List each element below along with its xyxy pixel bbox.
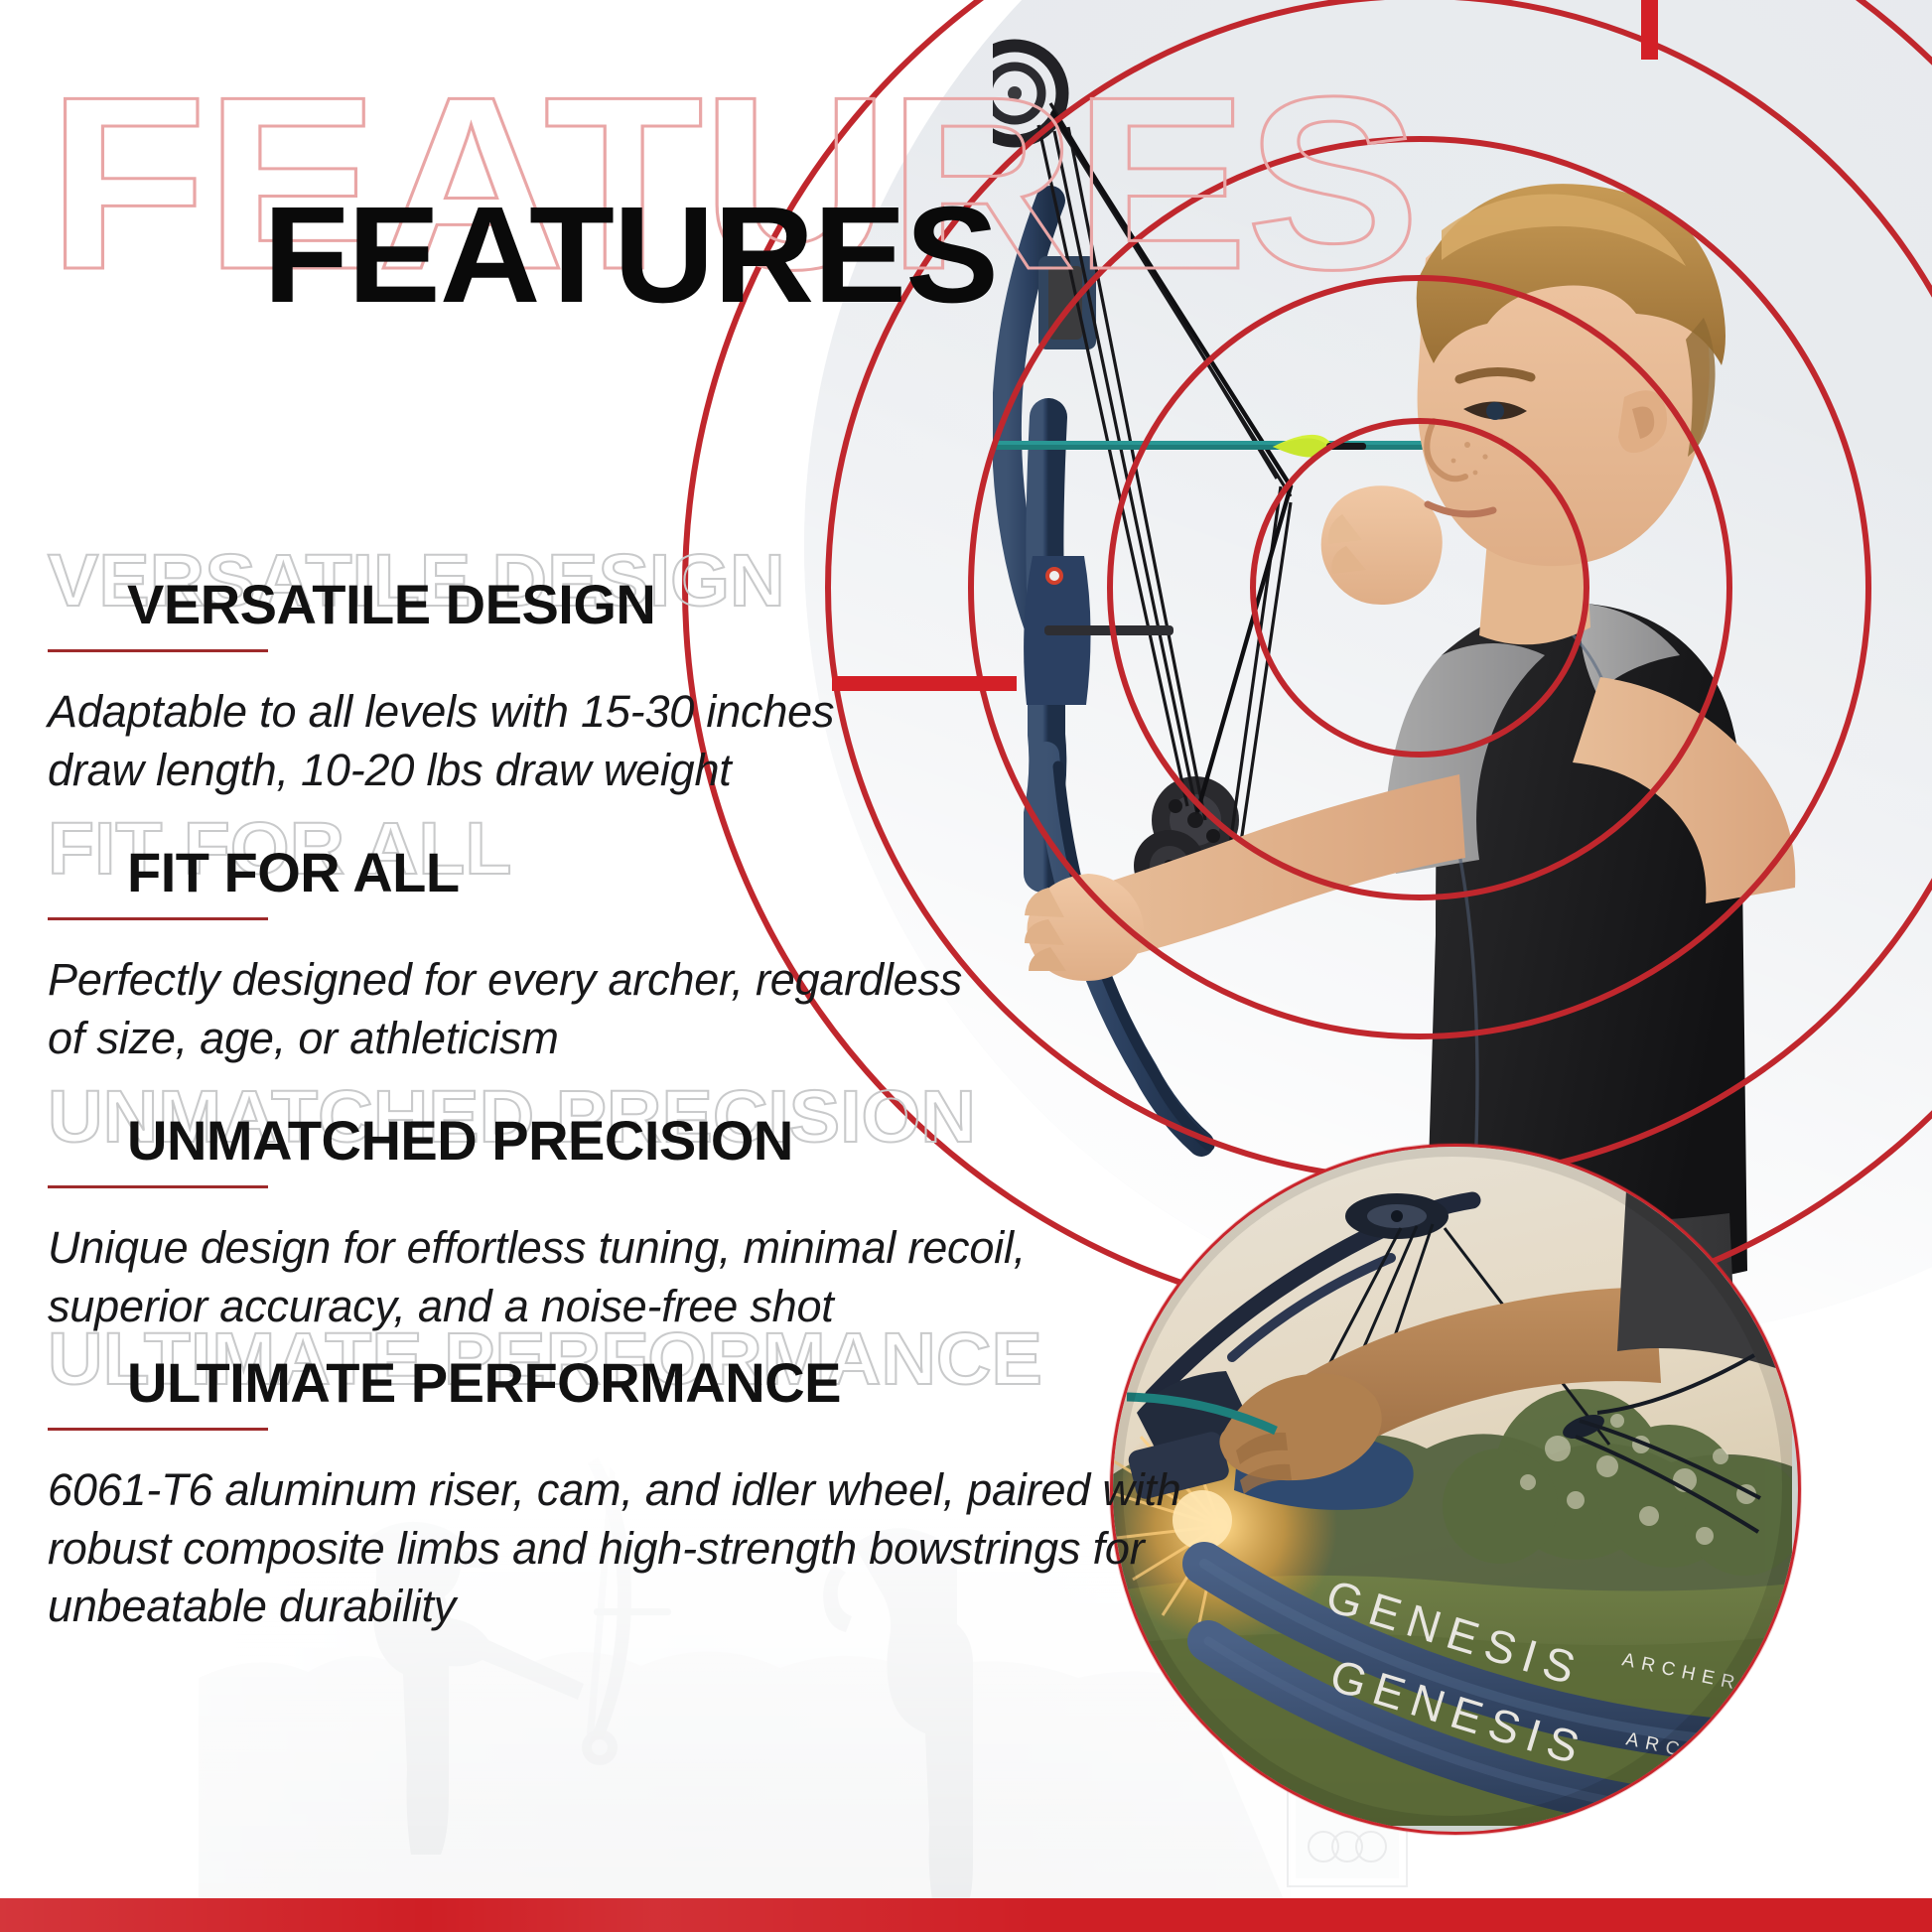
feature-body: 6061-T6 aluminum riser, cam, and idler w…	[48, 1461, 1100, 1636]
page-header: FEATURES FEATURES	[0, 60, 1092, 338]
feature-underline	[48, 1428, 268, 1431]
feature-underline	[48, 649, 268, 652]
accent-bar-bottom-sheen	[0, 1898, 1932, 1932]
feature-body: Perfectly designed for every archer, reg…	[48, 951, 1100, 1067]
feature-underline	[48, 917, 268, 920]
feature-body-line: of size, age, or athleticism	[48, 1010, 1100, 1068]
feature-body-line: 6061-T6 aluminum riser, cam, and idler w…	[48, 1461, 1100, 1520]
feature-title: VERSATILE DESIGN	[127, 577, 655, 632]
accent-tick-top	[1641, 0, 1658, 60]
feature-title: FIT FOR ALL	[127, 845, 460, 900]
feature-body-line: Unique design for effortless tuning, min…	[48, 1219, 1100, 1278]
feature-title: ULTIMATE PERFORMANCE	[127, 1355, 841, 1411]
feature-body-line: Perfectly designed for every archer, reg…	[48, 951, 1100, 1010]
feature-body-line: unbeatable durability	[48, 1578, 1100, 1636]
feature-body-line: draw length, 10-20 lbs draw weight	[48, 742, 1100, 800]
inset-circle-photo: GENESIS GENESIS ARCHERY	[1110, 1144, 1801, 1835]
page-title: FEATURES	[263, 187, 998, 324]
infographic-canvas: Hurricane	[0, 0, 1932, 1932]
feature-body-line: Adaptable to all levels with 15-30 inche…	[48, 683, 1100, 742]
feature-title: UNMATCHED PRECISION	[127, 1113, 793, 1169]
feature-body: Adaptable to all levels with 15-30 inche…	[48, 683, 1100, 799]
feature-underline	[48, 1185, 268, 1188]
feature-body-line: robust composite limbs and high-strength…	[48, 1520, 1100, 1579]
